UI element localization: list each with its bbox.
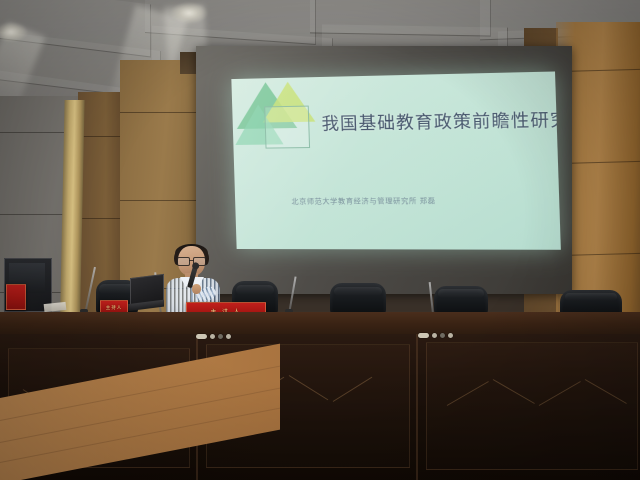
control-knob[interactable] (210, 334, 215, 339)
speaker-hand (192, 284, 201, 294)
laptop (126, 276, 162, 310)
slide-square-outline-icon (264, 106, 310, 149)
nameplate-text: 主持人 (106, 305, 123, 311)
lecture-hall-photo: 我国基础教育政策前瞻性研究 北京师范大学教育经济与管理研究所 郑磊 (0, 0, 640, 480)
slide-title: 我国基础教育政策前瞻性研究 (321, 105, 561, 135)
control-switch[interactable] (196, 334, 207, 339)
ceiling-light-icon (170, 2, 208, 24)
chair (434, 286, 488, 314)
desk-control-panel[interactable] (196, 334, 231, 339)
control-knob[interactable] (226, 334, 231, 339)
chair (330, 283, 386, 314)
slide-subtitle: 北京师范大学教育经济与管理研究所 郑磊 (291, 196, 436, 207)
control-knob[interactable] (448, 333, 453, 338)
presentation-slide: 我国基础教育政策前瞻性研究 北京师范大学教育经济与管理研究所 郑磊 (231, 71, 561, 249)
projection-screen: 我国基础教育政策前瞻性研究 北京师范大学教育经济与管理研究所 郑磊 (196, 46, 572, 294)
nameplate (6, 284, 26, 310)
control-knob[interactable] (440, 333, 445, 338)
desk-front-panel (0, 334, 640, 480)
control-switch[interactable] (418, 333, 429, 338)
control-knob[interactable] (218, 334, 223, 339)
control-knob[interactable] (432, 333, 437, 338)
desk-control-panel[interactable] (418, 333, 453, 338)
glasses-icon (177, 257, 206, 264)
